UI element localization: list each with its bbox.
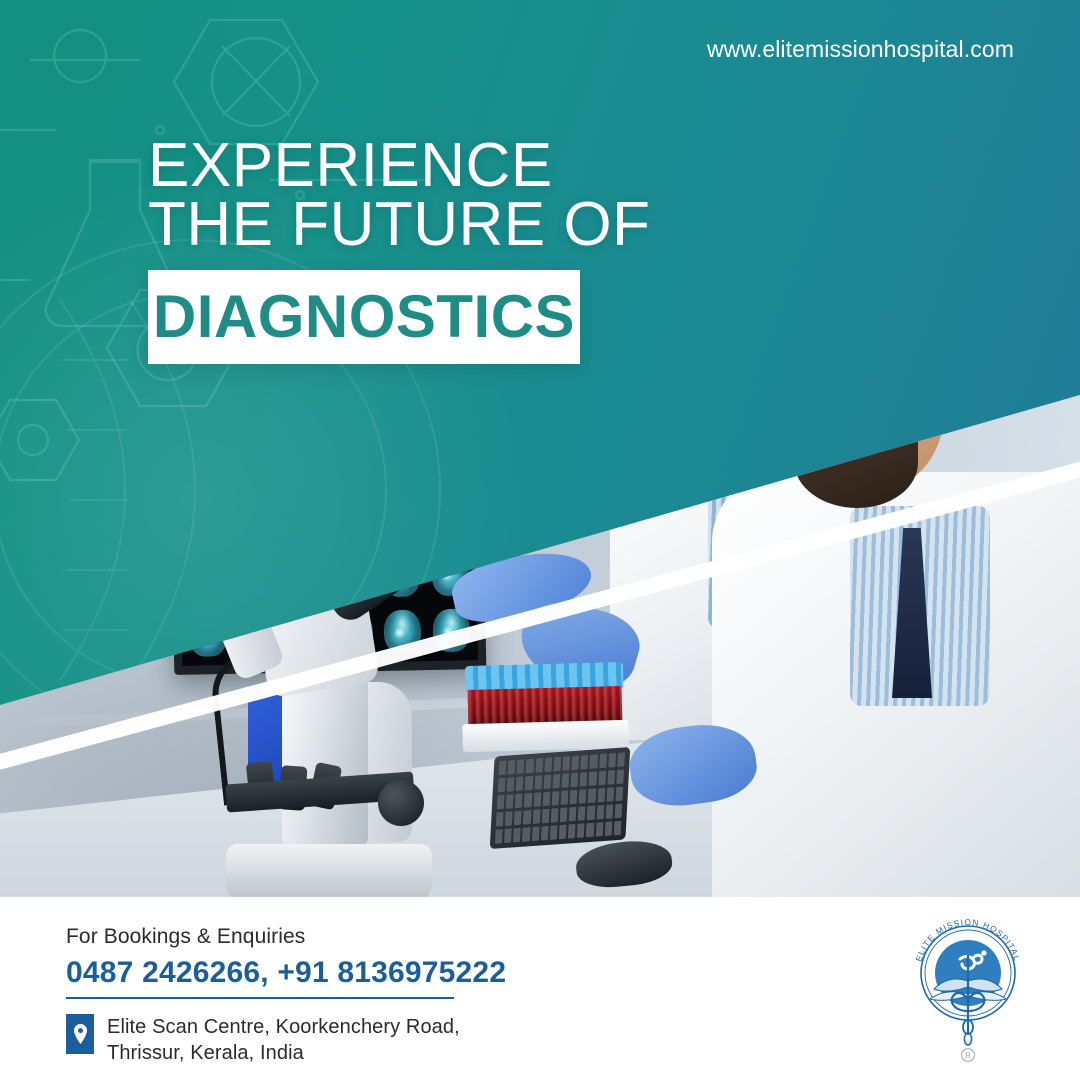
hair	[658, 300, 798, 450]
poster-canvas: www.elitemissionhospital.com EXPERIENCE …	[0, 0, 1080, 1080]
logo-emblem-icon: ELITE MISSION HOSPITAL R	[904, 915, 1032, 1065]
divider-rule	[66, 997, 454, 999]
blood-sample-test-tube-rack	[461, 662, 629, 752]
face	[672, 336, 780, 462]
microscope-base	[226, 844, 432, 897]
safety-goggles-icon	[663, 376, 776, 417]
address-line-2: Thrissur, Kerala, India	[107, 1040, 460, 1066]
headline-highlight-band: DIAGNOSTICS	[148, 270, 580, 364]
contact-block: For Bookings & Enquiries 0487 2426266, +…	[66, 925, 506, 1066]
hero-section: www.elitemissionhospital.com EXPERIENCE …	[0, 0, 1080, 897]
hospital-logo: ELITE MISSION HOSPITAL R	[904, 915, 1032, 1065]
headline-highlight-text: DIAGNOSTICS	[153, 287, 575, 347]
male-doctor	[742, 276, 1072, 896]
address-text: Elite Scan Centre, Koorkenchery Road, Th…	[107, 1014, 460, 1066]
headline-line-2: THE FUTURE OF	[148, 195, 650, 254]
bookings-label: For Bookings & Enquiries	[66, 925, 506, 949]
headline-block: EXPERIENCE THE FUTURE OF DIAGNOSTICS	[148, 136, 650, 364]
pin-glyph	[73, 1024, 88, 1044]
phone-numbers[interactable]: 0487 2426266, +91 8136975222	[66, 956, 506, 990]
location-pin-icon	[66, 1014, 94, 1054]
registered-mark: R	[965, 1051, 971, 1060]
website-url[interactable]: www.elitemissionhospital.com	[707, 36, 1014, 63]
footer-section: For Bookings & Enquiries 0487 2426266, +…	[0, 897, 1080, 1080]
address-line-1: Elite Scan Centre, Koorkenchery Road,	[107, 1014, 460, 1040]
focus-knob	[378, 780, 424, 826]
hair	[776, 280, 962, 442]
address-block: Elite Scan Centre, Koorkenchery Road, Th…	[66, 1014, 506, 1066]
safety-goggles-icon	[781, 362, 959, 408]
rack-base	[462, 720, 629, 752]
headline-line-1: EXPERIENCE	[148, 136, 650, 195]
computer-keyboard	[490, 747, 631, 849]
beard	[794, 416, 918, 508]
